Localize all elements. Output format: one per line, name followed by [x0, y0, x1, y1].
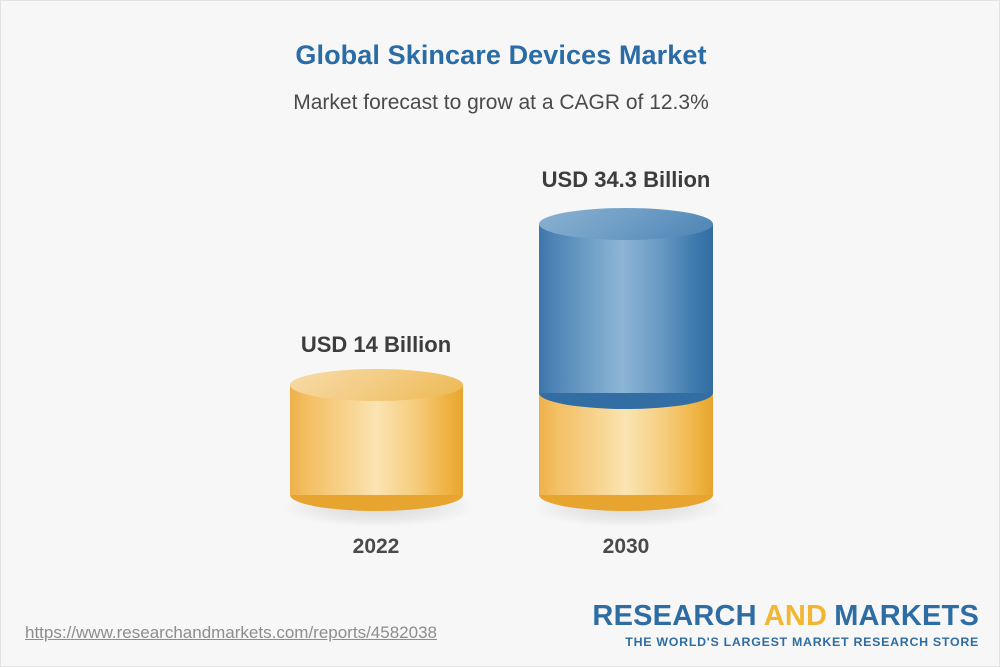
bar-cylinder-2030[interactable]: [539, 208, 713, 409]
category-label-2030: 2030: [526, 535, 726, 559]
cylinder-top-2022: [290, 369, 463, 401]
logo-wordmark: RESEARCHANDMARKETS: [592, 602, 979, 631]
logo-word-markets: MARKETS: [834, 600, 979, 632]
value-label-2022: USD 14 Billion: [251, 332, 501, 358]
brand-logo[interactable]: RESEARCHANDMARKETS THE WORLD'S LARGEST M…: [592, 602, 979, 648]
bar-cylinder-2022[interactable]: [290, 369, 463, 511]
source-url-link[interactable]: https://www.researchandmarkets.com/repor…: [25, 623, 437, 643]
logo-tagline: THE WORLD'S LARGEST MARKET RESEARCH STOR…: [592, 636, 979, 648]
cylinder-top-2030: [539, 208, 713, 240]
logo-word-and: AND: [764, 600, 827, 632]
plot-area: USD 14 Billion 2022 USD 34.3 Billion: [1, 1, 1000, 667]
cylinder-body-2022: [290, 385, 463, 495]
cylinder-body-2030-blue: [539, 224, 713, 393]
category-label-2022: 2022: [276, 535, 476, 559]
value-label-2030: USD 34.3 Billion: [501, 167, 751, 193]
chart-canvas: Global Skincare Devices Market Market fo…: [0, 0, 1000, 667]
logo-word-research: RESEARCH: [592, 600, 756, 632]
